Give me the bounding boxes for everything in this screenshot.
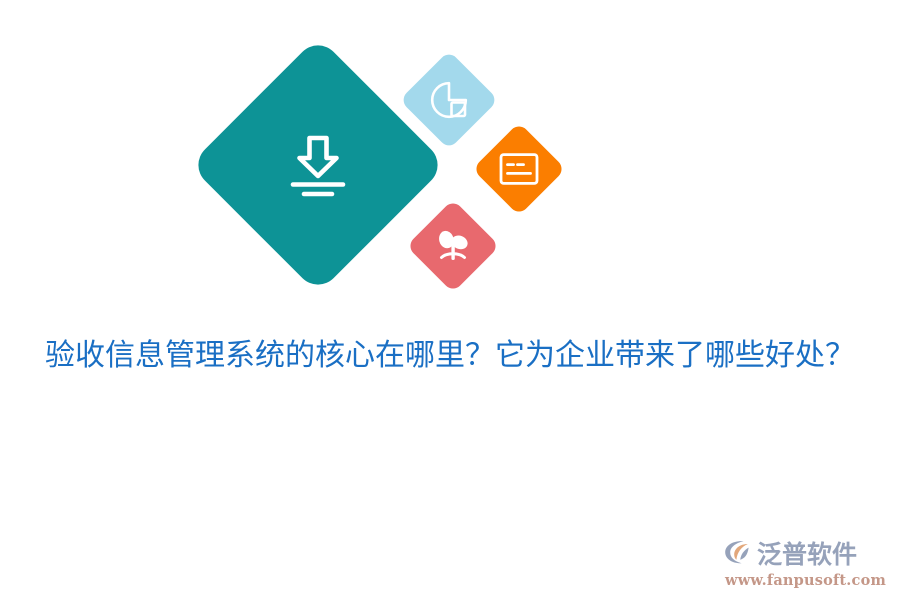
fanpu-logo-icon — [723, 538, 753, 571]
diamond-tile-main — [189, 36, 446, 293]
diamond-tile-sprout — [406, 199, 499, 292]
download-icon — [281, 128, 355, 202]
id-card-icon — [499, 152, 539, 186]
diamond-tile-card — [472, 122, 565, 215]
sprout-plant-icon — [433, 226, 473, 266]
pie-chart-report-icon — [429, 80, 469, 120]
page-title: 验收信息管理系统的核心在哪里？它为企业带来了哪些好处？ — [0, 334, 900, 378]
watermark-brand-row: 泛普软件 — [723, 538, 857, 571]
watermark-brand-name: 泛普软件 — [757, 542, 857, 567]
hero-graphic — [0, 0, 900, 330]
watermark-url: www.fanpusoft.com — [723, 574, 886, 589]
watermark-logo: 泛普软件 www.fanpusoft.com — [723, 538, 886, 589]
